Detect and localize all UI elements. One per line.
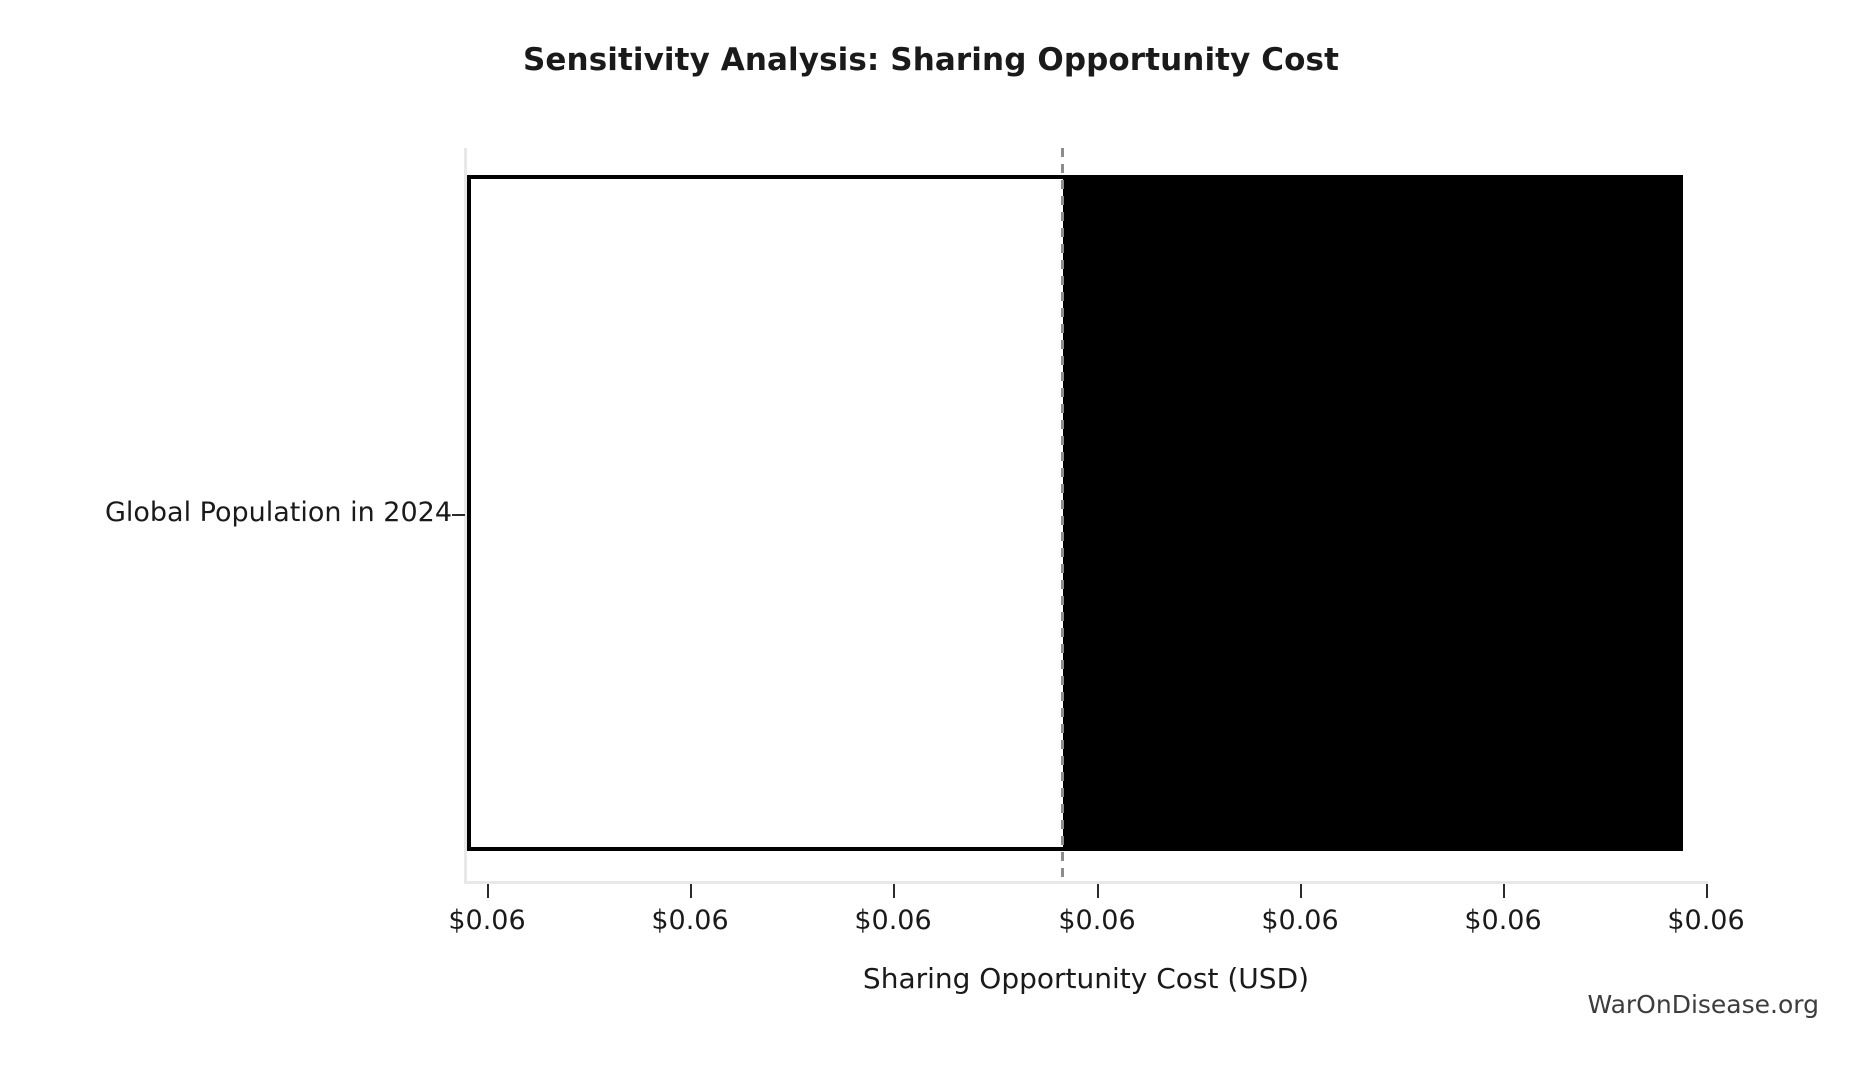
x-axis-spine [464,881,1708,884]
chart-title: Sensitivity Analysis: Sharing Opportunit… [0,42,1862,78]
x-axis-tick-mark-6 [1503,884,1505,898]
x-axis-tick-label-1: $0.06 [448,905,525,936]
x-axis-tick-mark-3 [893,884,895,898]
bar-global-population-fill[interactable] [1063,175,1683,851]
x-axis-tick-label-3: $0.06 [854,905,931,936]
x-axis-tick-label-4: $0.06 [1058,905,1135,936]
reference-line-dashed [1061,148,1064,884]
x-axis-tick-label-7: $0.06 [1667,905,1744,936]
x-axis-title: Sharing Opportunity Cost (USD) [464,962,1708,995]
x-axis-tick-label-6: $0.06 [1464,905,1541,936]
x-axis-tick-label-2: $0.06 [651,905,728,936]
y-axis-tick-mark [452,514,465,516]
watermark-text: WarOnDisease.org [1587,990,1819,1019]
x-axis-tick-mark-1 [487,884,489,898]
y-axis-tick-label-global-population: Global Population in 2024 [105,497,452,528]
x-axis-tick-mark-4 [1097,884,1099,898]
x-axis-tick-mark-5 [1300,884,1302,898]
x-axis-tick-mark-2 [690,884,692,898]
x-axis-tick-mark-7 [1706,884,1708,898]
plot-area: $0.06 $0.06 $0.06 $0.06 $0.06 $0.06 $0.0… [464,148,1708,884]
x-axis-tick-label-5: $0.06 [1261,905,1338,936]
chart-figure: Sensitivity Analysis: Sharing Opportunit… [0,0,1862,1075]
